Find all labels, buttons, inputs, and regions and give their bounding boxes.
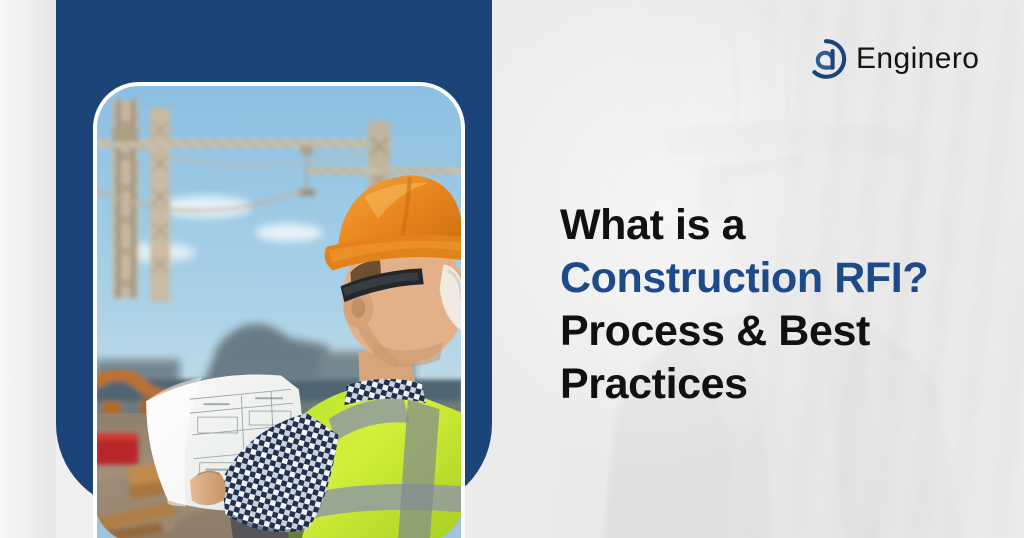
- enginero-circular-e-logo-icon: [805, 38, 847, 80]
- headline-line-1: What is a: [560, 199, 980, 252]
- background-left-strip: [0, 0, 56, 538]
- headline-line-4: Practices: [560, 358, 980, 411]
- page-title: What is a Construction RFI? Process & Be…: [560, 199, 980, 411]
- brand-logo[interactable]: Enginero: [805, 38, 979, 80]
- hero-photo-card: [93, 82, 465, 538]
- hero-photo: [97, 86, 461, 538]
- headline-line-3: Process & Best: [560, 305, 980, 358]
- brand-name: Enginero: [856, 44, 979, 74]
- headline-line-2: Construction RFI?: [560, 252, 980, 305]
- blog-banner: Enginero What is a Construction RFI? Pro…: [0, 0, 1024, 538]
